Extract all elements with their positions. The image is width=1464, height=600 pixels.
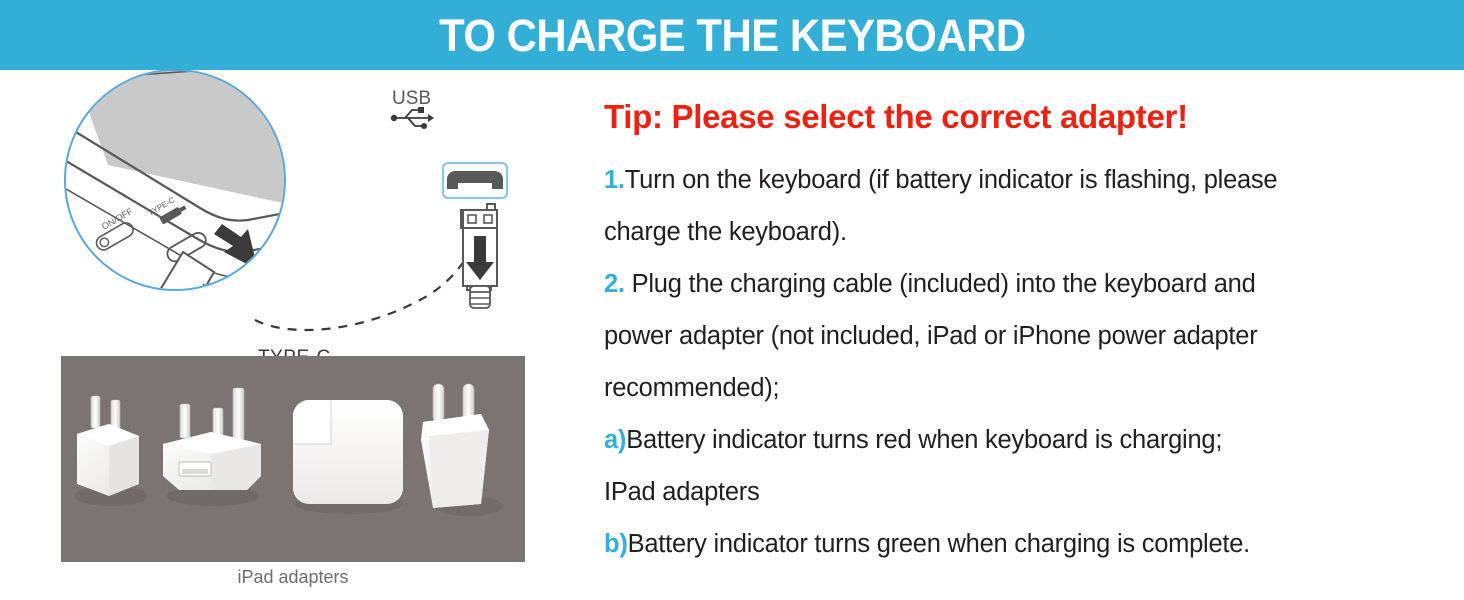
usb-connector-group: USB xyxy=(391,88,507,308)
instructions-column: Tip: Please select the correct adapter! … xyxy=(602,70,1452,600)
header-band: TO CHARGE THE KEYBOARD xyxy=(0,0,1464,70)
instruction-text: power adapter (not included, iPad or iPh… xyxy=(604,322,1257,350)
instruction-marker: 2. xyxy=(604,270,625,298)
ipad-adapters-photo xyxy=(61,356,525,562)
instruction-line: a)Battery indicator turns red when keybo… xyxy=(604,414,1442,466)
instruction-text: Battery indicator turns red when keyboar… xyxy=(626,426,1222,454)
page-title: TO CHARGE THE KEYBOARD xyxy=(439,13,1026,58)
instruction-text: recommended); xyxy=(604,374,779,402)
instruction-marker: 1. xyxy=(604,166,625,194)
charging-port-diagram: ON/OFF TYPE-C xyxy=(0,70,590,352)
square-ipad-adapter xyxy=(293,400,403,514)
left-illustration-column: ON/OFF TYPE-C xyxy=(0,70,590,600)
instruction-marker: a) xyxy=(604,426,626,454)
instruction-text: Battery indicator turns green when charg… xyxy=(628,530,1250,558)
instruction-text: charge the keyboard). xyxy=(604,218,847,246)
instruction-line: recommended); xyxy=(604,362,1442,414)
instructions-list: 1.Turn on the keyboard (if battery indic… xyxy=(604,154,1442,570)
instruction-marker: b) xyxy=(604,530,628,558)
instruction-text: IPad adapters xyxy=(604,478,760,506)
usb-trident-icon xyxy=(391,107,434,129)
adapter-photo-caption: iPad adapters xyxy=(61,567,525,588)
instruction-line: 2. Plug the charging cable (included) in… xyxy=(604,258,1442,310)
instruction-line: b)Battery indicator turns green when cha… xyxy=(604,518,1442,570)
usb-port xyxy=(443,163,507,198)
instruction-line: charge the keyboard). xyxy=(604,206,1442,258)
instruction-text: Turn on the keyboard (if battery indicat… xyxy=(625,166,1278,194)
instruction-line: power adapter (not included, iPad or iPh… xyxy=(604,310,1442,362)
charge-keyboard-instruction-page: TO CHARGE THE KEYBOARD xyxy=(0,0,1464,600)
cable-dashed-path xyxy=(255,210,482,330)
instruction-text: Plug the charging cable (included) into … xyxy=(625,270,1256,298)
usb-label: USB xyxy=(392,88,431,109)
instruction-line: IPad adapters xyxy=(604,466,1442,518)
usb-a-plug xyxy=(461,204,497,308)
tip-heading: Tip: Please select the correct adapter! xyxy=(604,98,1188,136)
instruction-line: 1.Turn on the keyboard (if battery indic… xyxy=(604,154,1442,206)
